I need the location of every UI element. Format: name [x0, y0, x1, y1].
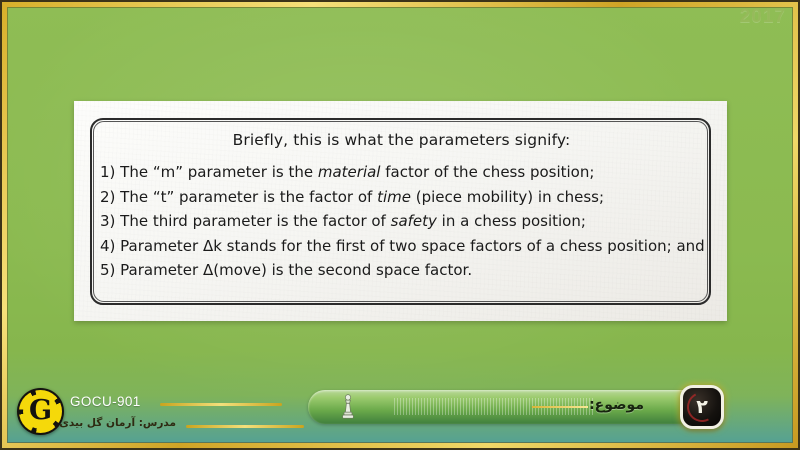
slide-heading: Briefly, this is what the parameters sig…: [98, 131, 705, 149]
topic-capsule: موضوع:: [308, 390, 712, 424]
footer-bar: G GOCU-901 مدرس: آرمان گل بیدی موضوع: ۲: [0, 382, 800, 450]
slide-text-block: Briefly, this is what the parameters sig…: [98, 131, 705, 283]
bullet-item-5: 5) Parameter Δ(move) is the second space…: [98, 258, 705, 283]
year-watermark: 2017: [740, 6, 786, 28]
chess-piece-icon: [338, 394, 358, 421]
course-id-label: GOCU-901: [70, 394, 141, 409]
decorative-rule-top: [160, 403, 282, 406]
topic-label: موضوع:: [589, 397, 644, 413]
page-number: ۲: [696, 398, 708, 417]
bullet-item-3: 3) The third parameter is the factor of …: [98, 209, 705, 234]
gocu-logo: G: [17, 388, 64, 435]
topic-decorative-rule: [532, 406, 588, 408]
bullet-item-4: 4) Parameter Δk stands for the first of …: [98, 234, 705, 259]
page-number-badge: ۲: [680, 385, 724, 429]
slide-canvas: 2017 Briefly, this is what the parameter…: [0, 0, 800, 450]
decorative-rule-bottom: [186, 425, 304, 428]
content-panel: Briefly, this is what the parameters sig…: [74, 101, 727, 321]
bullet-item-1: 1) The “m” parameter is the material fac…: [98, 160, 705, 185]
instructor-label: مدرس: آرمان گل بیدی: [52, 417, 176, 429]
bullet-item-2: 2) The “t” parameter is the factor of ti…: [98, 185, 705, 210]
logo-letter: G: [17, 388, 64, 435]
